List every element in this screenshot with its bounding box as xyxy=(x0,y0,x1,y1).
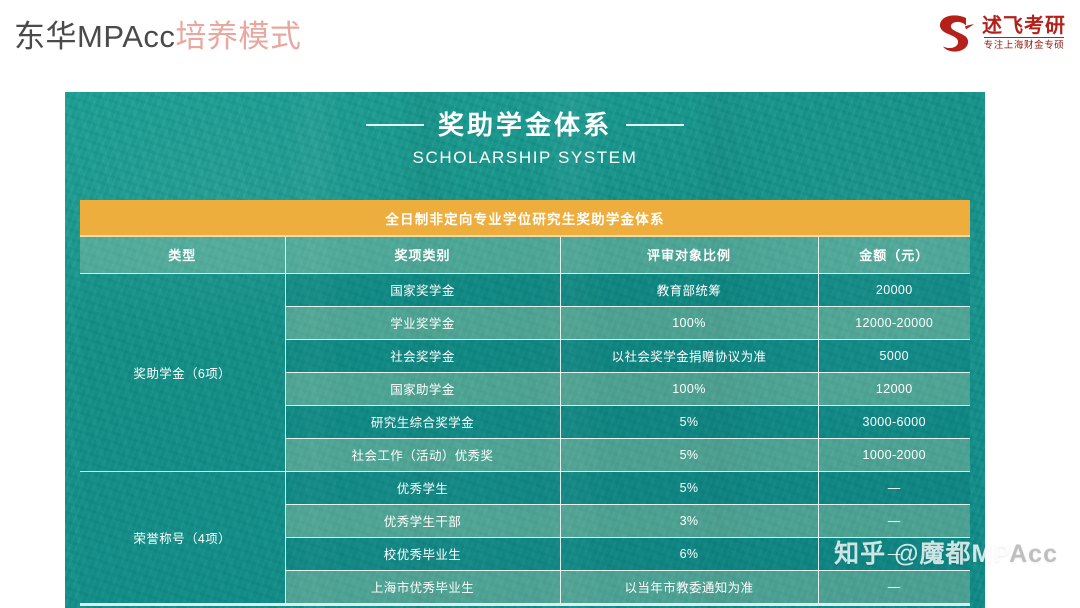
cell-amount: 12000 xyxy=(818,372,970,405)
page-title-primary: 东华MPAcc xyxy=(14,19,175,54)
cell-category: 优秀学生干部 xyxy=(285,504,560,537)
scholarship-grid: 类型 奖项类别 评审对象比例 金额（元） 奖助学金（6项） 国家奖学金 教育部统… xyxy=(80,237,970,604)
panel-heading-cn: 奖助学金体系 xyxy=(438,108,612,142)
cell-ratio: 100% xyxy=(560,372,818,405)
brand-tagline: 专注上海财金专硕 xyxy=(984,37,1065,52)
column-header-type: 类型 xyxy=(80,237,285,273)
cell-ratio: 教育部统筹 xyxy=(560,273,818,306)
cell-ratio: 5% xyxy=(560,438,818,471)
cell-amount: — xyxy=(818,537,970,570)
cell-category: 研究生综合奖学金 xyxy=(285,405,560,438)
column-header-ratio: 评审对象比例 xyxy=(560,237,818,273)
cell-amount: 3000-6000 xyxy=(818,405,970,438)
column-header-amount: 金额（元） xyxy=(818,237,970,273)
group-type-cell-honors: 荣誉称号（4项） xyxy=(80,471,285,603)
cell-ratio: 100% xyxy=(560,306,818,339)
panel-heading-cn-row: 奖助学金体系 xyxy=(65,108,985,142)
cell-ratio: 3% xyxy=(560,504,818,537)
cell-ratio: 5% xyxy=(560,471,818,504)
heading-rule-right-icon xyxy=(626,124,684,126)
table-row: 荣誉称号（4项） 优秀学生 5% — xyxy=(80,471,970,504)
cell-ratio: 6% xyxy=(560,537,818,570)
cell-category: 校优秀毕业生 xyxy=(285,537,560,570)
cell-amount: 20000 xyxy=(818,273,970,306)
page-title: 东华MPAcc培养模式 xyxy=(14,15,301,59)
slide-header-band: 东华MPAcc培养模式 述飞考研 专注上海财金专硕 xyxy=(0,0,1080,92)
heading-rule-left-icon xyxy=(366,124,424,126)
cell-amount: 12000-20000 xyxy=(818,306,970,339)
cell-amount: 5000 xyxy=(818,339,970,372)
watermark-suffix: Acc xyxy=(1009,540,1058,568)
stylized-s-logo-icon xyxy=(935,12,975,54)
cell-category: 社会奖学金 xyxy=(285,339,560,372)
table-row: 奖助学金（6项） 国家奖学金 教育部统筹 20000 xyxy=(80,273,970,306)
group-type-cell-scholarships: 奖助学金（6项） xyxy=(80,273,285,471)
panel-heading-en: SCHOLARSHIP SYSTEM xyxy=(65,147,985,169)
cell-category: 社会工作（活动）优秀奖 xyxy=(285,438,560,471)
cell-amount: 1000-2000 xyxy=(818,438,970,471)
scholarship-table: 全日制非定向专业学位研究生奖助学金体系 类型 奖项类别 评审对象比例 金额（元） xyxy=(80,200,970,606)
slide-root: 东华MPAcc培养模式 述飞考研 专注上海财金专硕 奖助学金体系 SCHOLAR… xyxy=(0,0,1080,608)
page-title-accent: 培养模式 xyxy=(175,19,301,54)
brand-logo-text: 述飞考研 专注上海财金专硕 xyxy=(982,14,1066,52)
cell-category: 优秀学生 xyxy=(285,471,560,504)
cell-amount: — xyxy=(818,471,970,504)
table-header-row: 类型 奖项类别 评审对象比例 金额（元） xyxy=(80,237,970,273)
cell-ratio: 以当年市教委通知为准 xyxy=(560,570,818,603)
brand-logo: 述飞考研 专注上海财金专硕 xyxy=(935,10,1066,56)
cell-ratio: 5% xyxy=(560,405,818,438)
brand-name: 述飞考研 xyxy=(982,14,1066,36)
panel-heading: 奖助学金体系 SCHOLARSHIP SYSTEM xyxy=(65,108,985,169)
content-panel: 奖助学金体系 SCHOLARSHIP SYSTEM 全日制非定向专业学位研究生奖… xyxy=(65,92,985,608)
table-title-bar: 全日制非定向专业学位研究生奖助学金体系 xyxy=(80,200,970,237)
cell-category: 学业奖学金 xyxy=(285,306,560,339)
cell-amount: — xyxy=(818,570,970,603)
cell-ratio: 以社会奖学金捐赠协议为准 xyxy=(560,339,818,372)
cell-amount: — xyxy=(818,504,970,537)
cell-category: 国家助学金 xyxy=(285,372,560,405)
table-bottom-rule xyxy=(80,604,970,606)
cell-category: 上海市优秀毕业生 xyxy=(285,570,560,603)
column-header-category: 奖项类别 xyxy=(285,237,560,273)
cell-category: 国家奖学金 xyxy=(285,273,560,306)
